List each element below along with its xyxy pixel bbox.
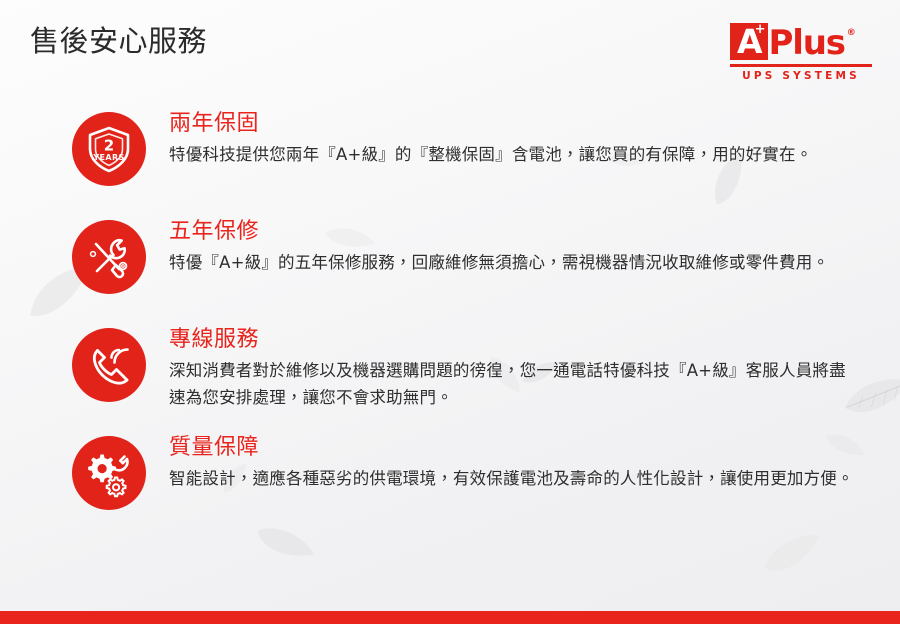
gears-wrench-icon [72, 436, 146, 510]
shield-svg: 2 YEARS [83, 123, 135, 175]
header: 售後安心服務 A + Plus ® UPS SYSTEMS [0, 0, 900, 96]
logo-plus-icon: + [755, 25, 765, 35]
logo-subtitle: UPS SYSTEMS [730, 70, 872, 82]
feature-list: 2 YEARS 兩年保固 特優科技提供您兩年『A+級』的『整機保固』含電池，讓您… [0, 108, 900, 540]
wrench-screwdriver-icon [72, 220, 146, 294]
page-title: 售後安心服務 [30, 24, 207, 59]
shield-year-number: 2 [104, 137, 114, 155]
aplus-logo: A + Plus ® UPS SYSTEMS [720, 18, 882, 80]
logo-divider [730, 64, 872, 67]
shield-2-years-icon: 2 YEARS [72, 112, 146, 186]
feature-body: 質量保障 智能設計，適應各種惡劣的供電環境，有效保護電池及壽命的人性化設計，讓使… [146, 432, 872, 492]
feature-title: 兩年保固 [169, 109, 872, 139]
feature-description: 智能設計，適應各種惡劣的供電環境，有效保護電池及壽命的人性化設計，讓使用更加方便… [169, 465, 859, 492]
feature-description: 特優科技提供您兩年『A+級』的『整機保固』含電池，讓您買的有保障，用的好實在。 [169, 141, 859, 168]
feature-description: 特優『A+級』的五年保修服務，回廠維修無須擔心，需視機器情況收取維修或零件費用。 [169, 249, 859, 276]
feature-item: 質量保障 智能設計，適應各種惡劣的供電環境，有效保護電池及壽命的人性化設計，讓使… [0, 432, 900, 524]
feature-item: 五年保修 特優『A+級』的五年保修服務，回廠維修無須擔心，需視機器情況收取維修或… [0, 216, 900, 308]
logo-wordmark: A + Plus ® [720, 18, 882, 60]
logo-letter-a: A + [730, 23, 768, 60]
phone-ringing-icon [72, 328, 146, 402]
feature-item: 專線服務 深知消費者對於維修以及機器選購問題的徬徨，您一通電話特優科技『A+級』… [0, 324, 900, 416]
feature-description: 深知消費者對於維修以及機器選購問題的徬徨，您一通電話特優科技『A+級』客服人員將… [169, 357, 859, 411]
footer-accent-bar [0, 611, 900, 624]
tools-svg [83, 231, 135, 283]
logo-word-plus: Plus [769, 26, 845, 60]
feature-title: 質量保障 [169, 433, 872, 463]
gears-svg [83, 447, 135, 499]
feature-body: 五年保修 特優『A+級』的五年保修服務，回廠維修無須擔心，需視機器情況收取維修或… [146, 216, 872, 276]
phone-svg [83, 339, 135, 391]
feature-item: 2 YEARS 兩年保固 特優科技提供您兩年『A+級』的『整機保固』含電池，讓您… [0, 108, 900, 200]
feature-title: 五年保修 [169, 217, 872, 247]
shield-year-label: YEARS [92, 153, 124, 162]
feature-body: 專線服務 深知消費者對於維修以及機器選購問題的徬徨，您一通電話特優科技『A+級』… [146, 324, 872, 411]
registered-trademark-icon: ® [847, 29, 856, 38]
feature-body: 兩年保固 特優科技提供您兩年『A+級』的『整機保固』含電池，讓您買的有保障，用的… [146, 108, 872, 168]
feature-title: 專線服務 [169, 325, 872, 355]
gear-small-icon [107, 478, 126, 497]
slide-root: 售後安心服務 A + Plus ® UPS SYSTEMS 2 [0, 0, 900, 624]
